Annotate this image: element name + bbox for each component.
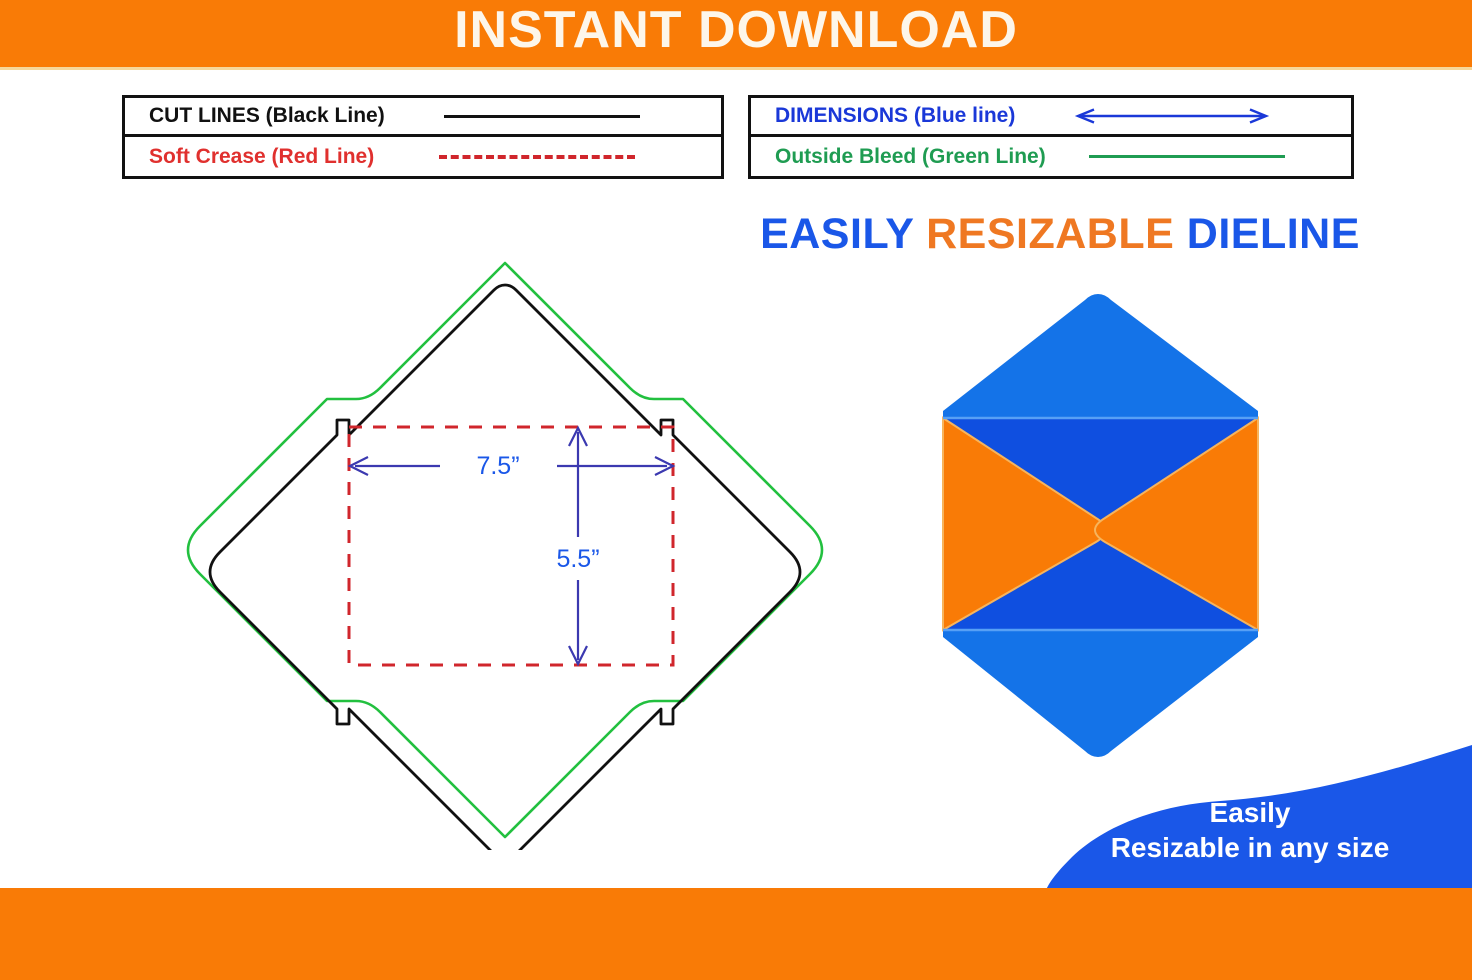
envelope-top-flap: [943, 294, 1258, 418]
legend-sample-cut-lines: [385, 98, 721, 134]
top-bar-underline: [0, 67, 1472, 70]
dieline-drawing: 7.5” 5.5”: [110, 240, 900, 850]
dimension-height-label: 5.5”: [556, 545, 599, 573]
legend-left: CUT LINES (Black Line) Soft Crease (Red …: [122, 95, 724, 179]
poster-canvas: INSTANT DOWNLOAD CUT LINES (Black Line) …: [0, 0, 1472, 980]
legend-sample-soft-crease: [374, 137, 721, 176]
legend-right: DIMENSIONS (Blue line) Outside Bleed (Gr…: [748, 95, 1354, 179]
legend-row-soft-crease: Soft Crease (Red Line): [125, 137, 721, 176]
envelope-mockup: [900, 270, 1300, 780]
legend-label-cut-lines: CUT LINES (Black Line): [149, 104, 385, 128]
solid-green-line-icon: [1089, 155, 1285, 158]
headline-word-dieline: DIELINE: [1187, 210, 1360, 258]
envelope-bottom-flap: [943, 630, 1258, 757]
legend-sample-dimensions: [1015, 98, 1351, 134]
legend-sample-outside-bleed: [1046, 137, 1351, 176]
legend-row-dimensions: DIMENSIONS (Blue line): [751, 98, 1351, 137]
bottom-orange-bar: [0, 888, 1472, 980]
double-arrow-blue-icon: [1072, 108, 1272, 124]
legend-label-dimensions: DIMENSIONS (Blue line): [775, 104, 1015, 128]
legend-label-soft-crease: Soft Crease (Red Line): [149, 145, 374, 169]
outside-bleed-path: [188, 263, 822, 837]
dimension-width-label: 7.5”: [476, 452, 519, 480]
dashed-red-line-icon: [439, 155, 635, 159]
dimension-width: 7.5”: [350, 452, 673, 480]
legend-row-outside-bleed: Outside Bleed (Green Line): [751, 137, 1351, 176]
headline-word-resizable: RESIZABLE: [926, 210, 1174, 258]
page-title: INSTANT DOWNLOAD: [0, 0, 1472, 67]
badge-wave-shape: [1046, 745, 1472, 890]
cut-line-path: [210, 285, 800, 850]
dimension-height: 5.5”: [556, 428, 599, 664]
resizable-badge: [1010, 745, 1472, 890]
solid-black-line-icon: [444, 115, 640, 118]
legend-row-cut-lines: CUT LINES (Black Line): [125, 98, 721, 137]
legend-label-outside-bleed: Outside Bleed (Green Line): [775, 145, 1046, 169]
